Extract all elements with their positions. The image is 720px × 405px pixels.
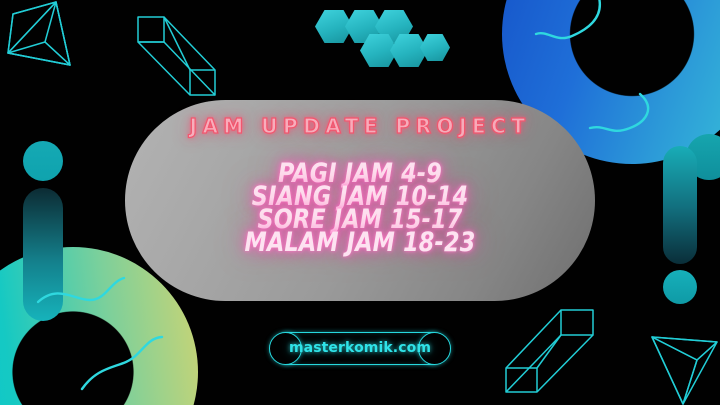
exclamation-bar-shape xyxy=(663,146,697,264)
hexagon-icon xyxy=(420,34,450,61)
website-badge[interactable]: masterkomik.com xyxy=(269,332,451,365)
exclamation-dot-shape xyxy=(663,270,697,304)
teal-circle xyxy=(686,134,720,180)
schedule-list: PAGI JAM 4-9 SIANG JAM 10-14 SORE JAM 15… xyxy=(125,162,595,254)
letter-i-bar-shape xyxy=(23,188,63,321)
website-url: masterkomik.com xyxy=(269,340,451,356)
wireframe-box-bottomright xyxy=(506,310,593,392)
wireframe-pyramid-topleft xyxy=(8,2,70,65)
letter-i-dot-shape xyxy=(23,141,63,181)
wireframe-box-topleft xyxy=(138,17,215,95)
wireframe-pyramid-bottomright xyxy=(652,337,717,404)
content-panel: JAM UPDATE PROJECT PAGI JAM 4-9 SIANG JA… xyxy=(125,100,595,301)
poster-canvas: JAM UPDATE PROJECT PAGI JAM 4-9 SIANG JA… xyxy=(0,0,720,405)
list-item: MALAM JAM 18-23 xyxy=(144,231,576,254)
page-title: JAM UPDATE PROJECT xyxy=(125,114,595,138)
